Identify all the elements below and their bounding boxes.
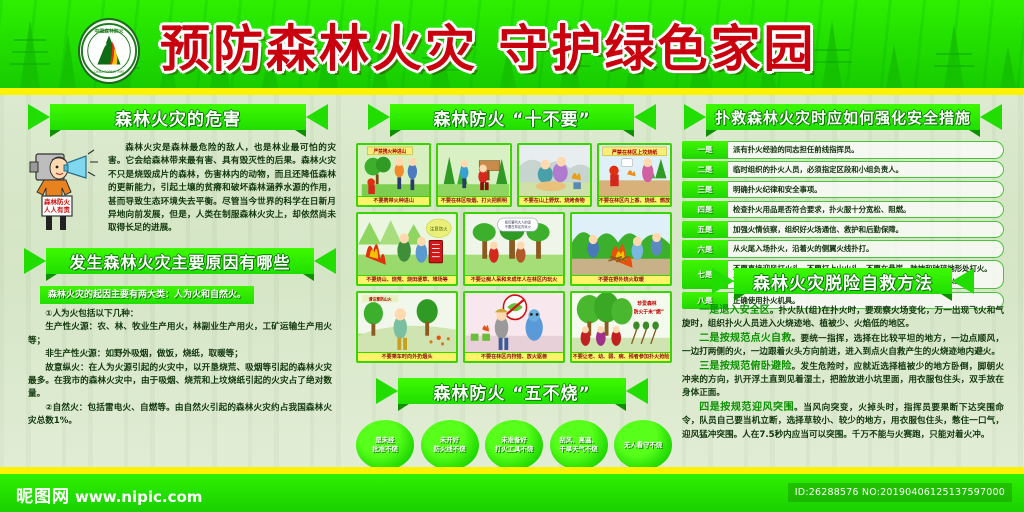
measure-row: 五是 加强火情侦察，组织好火场通信、救护和后勤保障。 — [682, 221, 1004, 239]
measure-number: 二是 — [682, 161, 728, 179]
measure-text: 临时组织的扑火人员，必须指定区段和小组负责人。 — [728, 161, 1004, 179]
banner-escape-label: 森林火灾脱险自救方法 — [734, 268, 952, 294]
site-name-cn: 昵图网 — [16, 482, 70, 507]
banner-five-no-burn: 森林防火 “五不烧” — [376, 378, 648, 408]
picture-card: 请注意防山火 不要乘车时向外扔烟头 — [356, 291, 458, 363]
circle-line-2: 批准不烧 — [372, 445, 398, 454]
svg-text:防火于未“燃”: 防火于未“燃” — [634, 308, 664, 315]
circle-item: 是未经 批准不烧 — [356, 420, 414, 470]
picture-caption: 不要在林区吸烟、打火把照明 — [438, 196, 509, 205]
ten-donts-picture-grid: 严禁携火种进山 不要携带火种进山 — [356, 143, 672, 368]
picture-card: 不要在林区内狩猎、放火驱兽 — [463, 291, 565, 363]
escape-item-lead: 二是按规范点火自救 — [699, 333, 791, 344]
picture-row-1: 严禁携火种进山 不要携带火种进山 — [356, 143, 672, 207]
five-no-burn-circles: 是未经 批准不烧 未开好 防火线不烧 未准备好 打火工具不烧 刮风、高温、 干旱… — [356, 420, 672, 470]
measure-text: 派有扑火经验的同志担任前线指挥员。 — [728, 141, 1004, 159]
measure-row: 一是 派有扑火经验的同志担任前线指挥员。 — [682, 141, 1004, 159]
circle-item: 无人看守不烧 — [614, 420, 672, 470]
escape-item-lead: 一是退入安全区 — [699, 305, 770, 316]
picture-card: 严禁在林区上坟烧纸 不要在林区内上香、烧纸、燃放烟花爆竹 — [597, 143, 672, 207]
causes-content: 森林火灾的起因主要有两大类：人为火和自然火。 ①人为火包括以下几种： 生产性火源… — [28, 282, 332, 429]
picture-card: 不要在山上野炊、烧烤食物 — [517, 143, 592, 207]
picture-card: 不要在林区吸烟、打火把照明 — [436, 143, 511, 207]
svg-text:CHINA FOREST FIRE: CHINA FOREST FIRE — [94, 70, 125, 74]
measure-row: 三是 明确扑火纪律和安全事项。 — [682, 181, 1004, 199]
hazard-paragraph: 森林火灾是森林最危险的敌人，也是林业最可怕的灾害。它会给森林带来最有害、具有毁灭… — [108, 142, 336, 236]
escape-item: 四是按规范迎风突围。当风向突变，火掉头时，指挥员要果断下达突围命令，队员自己要当… — [682, 401, 1004, 442]
causes-highlight: 森林火灾的起因主要有两大类：人为火和自然火。 — [40, 286, 254, 304]
causes-item-3: 非生产性火源：如野外吸烟，做饭，烧纸，取暖等； — [28, 348, 332, 361]
picture-card: 严禁携火种进山 不要携带火种进山 — [356, 143, 431, 207]
banner-measures: 扑救森林火灾时应如何强化安全措施 — [684, 104, 1002, 134]
picture-art — [519, 145, 590, 196]
causes-item-2: 生产性火源：农、林、牧业生产用火，林副业生产用火，工矿运输生产用火等； — [28, 321, 332, 348]
circle-line-1: 刮风、高温、 — [559, 436, 597, 445]
causes-item-5: ②自然火：包括雷电火、自燃等。由自然火引起的森林火灾约占我国森林火灾总数1%。 — [28, 402, 332, 429]
escape-item-lead: 三是按规范俯卧避险 — [699, 361, 791, 372]
hazard-paragraph-text: 森林火灾是森林最危险的敌人，也是林业最可怕的灾害。它会给森林带来最有害、具有毁灭… — [108, 142, 336, 236]
circle-line-1: 是未经 — [375, 436, 394, 445]
picture-art: 我们要听大人的话 不要在林区内玩火 — [465, 214, 563, 275]
circle-line-1: 未准备好 — [501, 436, 527, 445]
banner-hazard: 森林火灾的危害 — [28, 104, 328, 134]
poster-header: 中国森林防火 CHINA FOREST FIRE 预防森林火灾 守护绿色家园 — [0, 0, 1024, 88]
measure-number: 四是 — [682, 201, 728, 219]
circle-line-2: 防火线不烧 — [434, 445, 466, 454]
picture-card: 我们要听大人的话 不要在林区内玩火 不要让痴人呆和未成年人在林区内玩火 — [463, 212, 565, 286]
svg-text:人人有责: 人人有责 — [44, 205, 71, 214]
banner-hazard-label: 森林火灾的危害 — [50, 104, 306, 130]
measure-row: 二是 临时组织的扑火人员，必须指定区段和小组负责人。 — [682, 161, 1004, 179]
measure-row: 六是 从火尾入场扑火，沿着火的侧翼火线扑打。 — [682, 240, 1004, 258]
circle-item: 刮风、高温、 干旱天气不烧 — [550, 420, 608, 470]
picture-caption: 不要让老、幼、弱、病、残者参加扑火抢险 — [572, 352, 670, 361]
banner-ten-donts-label: 森林防火 “十不要” — [390, 104, 634, 130]
measure-number: 五是 — [682, 221, 728, 239]
footer-yellow-divider — [0, 467, 1024, 474]
footer-bar: 昵图网 www.nipic.com ID:26288576 NO:2019040… — [0, 474, 1024, 512]
picture-art: 严禁携火种进山 — [358, 145, 429, 196]
picture-caption: 不要在林区内狩猎、放火驱兽 — [465, 352, 563, 361]
svg-text:请注意防山火: 请注意防山火 — [369, 297, 392, 302]
measure-number: 一是 — [682, 141, 728, 159]
picture-caption: 不要在林区内上香、烧纸、燃放烟花爆竹 — [599, 196, 670, 205]
page-title: 预防森林火灾 守护绿色家园 — [160, 8, 1000, 82]
poster-root: 中国森林防火 CHINA FOREST FIRE 预防森林火灾 守护绿色家园 森… — [0, 0, 1024, 512]
measure-text: 从火尾入场扑火，沿着火的侧翼火线扑打。 — [728, 240, 1004, 258]
megaphone-man-illustration: 森林防火 人人有责 — [26, 148, 98, 232]
banner-ten-donts: 森林防火 “十不要” — [368, 104, 656, 134]
escape-item-lead: 四是按规范迎风突围 — [699, 402, 794, 413]
svg-text:不要在林区内玩火: 不要在林区内玩火 — [505, 224, 532, 229]
picture-caption: 不要携带火种进山 — [358, 196, 429, 205]
measure-text: 加强火情侦察，组织好火场通信、救护和后勤保障。 — [728, 221, 1004, 239]
measure-number: 三是 — [682, 181, 728, 199]
picture-card: 注意防火 不要烧山、烧荒、烧田埂草、堆场等 — [356, 212, 458, 286]
circle-line-1: 无人看守不烧 — [624, 441, 662, 450]
picture-art — [572, 214, 670, 275]
svg-text:中国森林防火: 中国森林防火 — [95, 28, 124, 35]
picture-art: 注意防火 — [358, 214, 456, 275]
escape-item: 三是按规范俯卧避险。发生危险时，应就近选择植被少的地方卧倒，脚朝火冲来的方向，扒… — [682, 360, 1004, 401]
escape-item: 一是退入安全区。扑火队(组)在扑火时，要观察火场变化，万一出现飞火和气旋时，组织… — [682, 304, 1004, 332]
measure-row: 四是 检查扑火用品是否符合要求，扑火服十分宽松、阻燃。 — [682, 201, 1004, 219]
picture-card: 不要在野外烧火取暖 — [570, 212, 672, 286]
picture-art: 请注意防山火 — [358, 293, 456, 352]
picture-row-3: 请注意防山火 不要乘车时向外扔烟头 — [356, 291, 672, 363]
picture-caption: 不要让痴人呆和未成年人在林区内玩火 — [465, 275, 563, 284]
svg-text:严禁在林区上坟烧纸: 严禁在林区上坟烧纸 — [611, 148, 658, 156]
picture-art — [438, 145, 509, 196]
escape-item: 二是按规范点火自救。要统一指挥，选择在比较平坦的地方，一边点顺风，一边打两侧的火… — [682, 332, 1004, 360]
banner-measures-label: 扑救森林火灾时应如何强化安全措施 — [706, 104, 980, 130]
svg-text:珍爱森林: 珍爱森林 — [637, 300, 656, 307]
circle-item: 未准备好 打火工具不烧 — [485, 420, 543, 470]
causes-list: ①人为火包括以下几种： 生产性火源：农、林、牧业生产用火，林副业生产用火，工矿运… — [28, 308, 332, 429]
circle-line-2: 干旱天气不烧 — [559, 445, 597, 454]
picture-card: 珍爱森林 防火于未“燃” 不要让老、幼、弱、病、残者参加扑火抢险 — [570, 291, 672, 363]
measure-text: 检查扑火用品是否符合要求，扑火服十分宽松、阻燃。 — [728, 201, 1004, 219]
picture-art: 严禁在林区上坟烧纸 — [599, 145, 670, 196]
site-watermark: 昵图网 www.nipic.com — [16, 482, 202, 507]
causes-item-4: 故意纵火：在人为火源引起的火灾中，以开垦烧荒、吸烟等引起的森林火灾最多。在我市的… — [28, 362, 332, 402]
asset-id-badge: ID:26288576 NO:20190406125137597000 — [788, 483, 1012, 502]
measure-text: 明确扑火纪律和安全事项。 — [728, 181, 1004, 199]
svg-text:注意防火: 注意防火 — [430, 225, 448, 232]
circle-line-1: 未开好 — [440, 436, 459, 445]
circle-item: 未开好 防火线不烧 — [421, 420, 479, 470]
picture-caption: 不要在野外烧火取暖 — [572, 275, 670, 284]
picture-art — [465, 293, 563, 352]
picture-art: 珍爱森林 防火于未“燃” — [572, 293, 670, 352]
causes-item-1: ①人为火包括以下几种： — [28, 308, 332, 321]
measure-number: 六是 — [682, 240, 728, 258]
forest-fire-emblem-icon: 中国森林防火 CHINA FOREST FIRE — [78, 18, 140, 84]
site-url: www.nipic.com — [75, 488, 202, 506]
svg-text:森林防火: 森林防火 — [44, 197, 71, 206]
banner-five-no-burn-label: 森林防火 “五不烧” — [398, 378, 626, 404]
escape-methods: 一是退入安全区。扑火队(组)在扑火时，要观察火场变化，万一出现飞火和气旋时，组织… — [682, 304, 1004, 442]
banner-causes-label: 发生森林火灾主要原因有哪些 — [46, 248, 314, 274]
picture-row-2: 注意防火 不要烧山、烧荒、烧田埂草、堆场等 — [356, 212, 672, 286]
banner-causes: 发生森林火灾主要原因有哪些 — [24, 248, 336, 278]
picture-caption: 不要乘车时向外扔烟头 — [358, 352, 456, 361]
banner-escape: 森林火灾脱险自救方法 — [712, 268, 974, 298]
picture-caption: 不要烧山、烧荒、烧田埂草、堆场等 — [358, 275, 456, 284]
svg-text:我们要听大人的话: 我们要听大人的话 — [505, 220, 532, 225]
svg-text:严禁携火种进山: 严禁携火种进山 — [373, 148, 407, 155]
circle-line-2: 打火工具不烧 — [495, 445, 533, 454]
picture-caption: 不要在山上野炊、烧烤食物 — [519, 196, 590, 205]
header-yellow-divider — [0, 88, 1024, 95]
